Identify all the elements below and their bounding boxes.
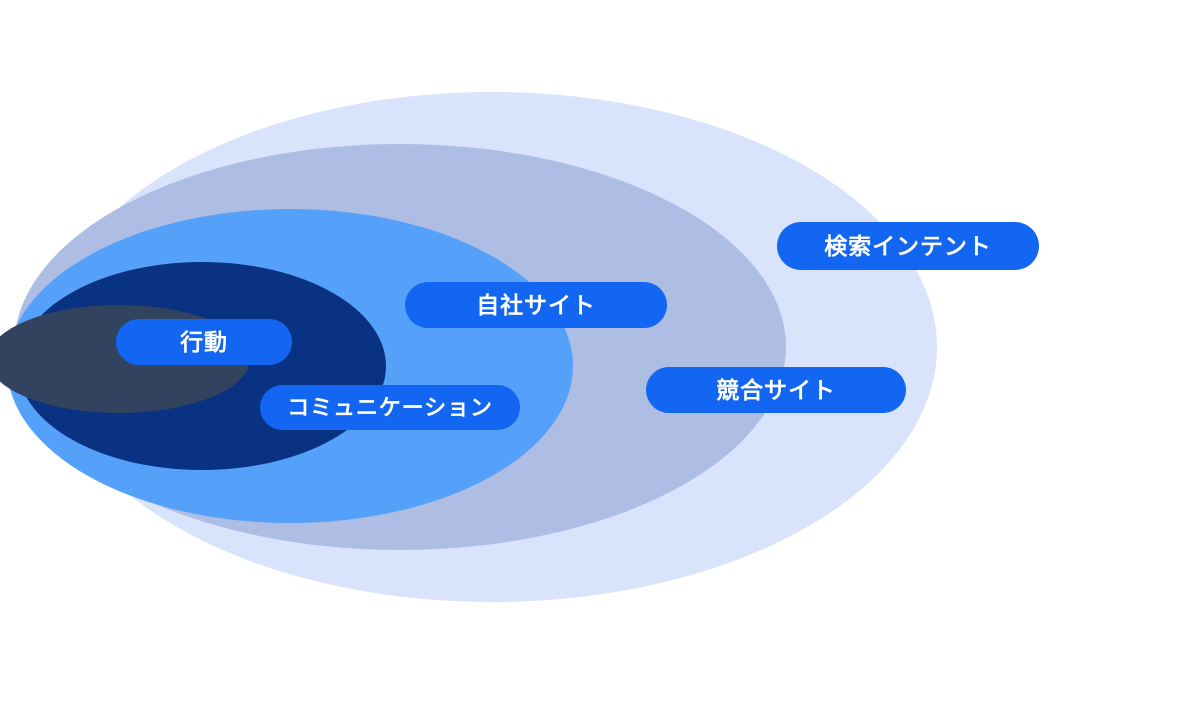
label-pill-search-intent[interactable]: 検索インテント [777, 222, 1039, 270]
label-text-competitor-site: 競合サイト [716, 379, 836, 402]
label-text-own-site: 自社サイト [476, 294, 596, 317]
label-pill-communication[interactable]: コミュニケーション [260, 385, 520, 430]
label-pill-behavior[interactable]: 行動 [116, 319, 292, 365]
diagram-canvas: 検索インテント 自社サイト 競合サイト コミュニケーション 行動 [0, 0, 1181, 711]
label-pill-competitor-site[interactable]: 競合サイト [646, 367, 906, 413]
label-text-search-intent: 検索インテント [824, 235, 991, 258]
label-text-behavior: 行動 [180, 331, 228, 354]
label-text-communication: コミュニケーション [287, 397, 492, 419]
label-pill-own-site[interactable]: 自社サイト [405, 282, 667, 328]
